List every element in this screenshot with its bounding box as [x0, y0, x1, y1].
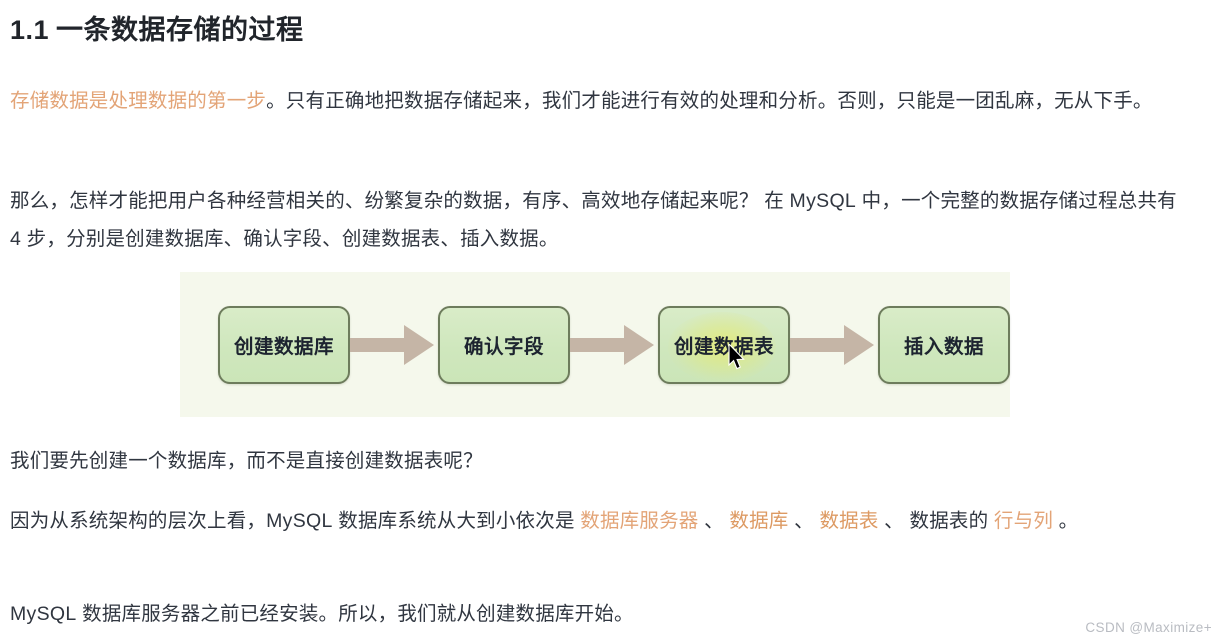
arrow-head-icon	[624, 325, 654, 365]
paragraph-4-term-mysql: MySQL	[266, 510, 333, 532]
flow-diagram: 创建数据库 确认字段 创建数据表 插入数据	[180, 272, 1010, 417]
page-title-text: 一条数据存储的过程	[56, 15, 304, 45]
paragraph-4-highlight-table: 数据表	[819, 510, 878, 532]
paragraph-1-highlight: 存储数据是处理数据的第一步	[10, 90, 266, 112]
paragraph-2: 那么，怎样才能把用户各种经营相关的、纷繁复杂的数据，有序、高效地存储起来呢？ 在…	[10, 182, 1188, 258]
paragraph-4-text-end: 。	[1053, 510, 1078, 532]
paragraph-4-text-a: 因为从系统架构的层次上看，	[10, 510, 266, 532]
page-title: 1.1一条数据存储的过程	[10, 14, 304, 46]
flow-node-create-table[interactable]: 创建数据表	[658, 306, 790, 384]
paragraph-3: 我们要先创建一个数据库，而不是直接创建数据表呢？	[10, 442, 1188, 480]
paragraph-4-highlight-db-server: 数据库服务器	[580, 510, 698, 532]
paragraph-4-sep-1: 、	[698, 510, 729, 532]
paragraph-4-sep-2: 、	[789, 510, 820, 532]
flow-node-label: 创建数据库	[234, 330, 334, 359]
arrow-shaft	[570, 338, 628, 352]
paragraph-5-text: 数据库服务器之前已经安装。所以，我们就从创建数据库开始。	[77, 603, 634, 625]
flow-node-label: 确认字段	[464, 330, 544, 359]
paragraph-5: MySQL 数据库服务器之前已经安装。所以，我们就从创建数据库开始。	[10, 595, 1188, 633]
paragraph-2-term-mysql: MySQL	[790, 190, 857, 212]
flow-node-create-database[interactable]: 创建数据库	[218, 306, 350, 384]
paragraph-4-text-b: 数据库系统从大到小依次是	[333, 510, 581, 532]
paragraph-4-highlight-rows-cols: 行与列	[994, 510, 1053, 532]
arrow-head-icon	[404, 325, 434, 365]
paragraph-4-text-c: 数据表的	[910, 510, 994, 532]
arrow-shaft	[350, 338, 408, 352]
flow-node-confirm-fields[interactable]: 确认字段	[438, 306, 570, 384]
paragraph-3-text: 我们要先创建一个数据库，而不是直接创建数据表呢？	[10, 450, 483, 472]
paragraph-2-text-a: 那么，怎样才能把用户各种经营相关的、纷繁复杂的数据，有序、高效地存储起来呢？ 在	[10, 190, 790, 212]
flow-node-label: 创建数据表	[674, 330, 774, 359]
csdn-watermark: CSDN @Maximize+	[1085, 620, 1212, 635]
arrow-shaft	[790, 338, 848, 352]
document-page: 1.1一条数据存储的过程 存储数据是处理数据的第一步。只有正确地把数据存储起来，…	[0, 0, 1226, 641]
paragraph-1: 存储数据是处理数据的第一步。只有正确地把数据存储起来，我们才能进行有效的处理和分…	[10, 82, 1188, 120]
flow-arrow-3	[790, 325, 878, 365]
flow-arrow-1	[350, 325, 438, 365]
paragraph-5-term-mysql: MySQL	[10, 603, 77, 625]
paragraph-4-highlight-database: 数据库	[729, 510, 788, 532]
arrow-head-icon	[844, 325, 874, 365]
paragraph-4: 因为从系统架构的层次上看，MySQL 数据库系统从大到小依次是 数据库服务器 、…	[10, 502, 1188, 540]
page-title-number: 1.1	[10, 15, 49, 45]
paragraph-4-sep-3: 、	[879, 510, 910, 532]
paragraph-1-text: 。只有正确地把数据存储起来，我们才能进行有效的处理和分析。否则，只能是一团乱麻，…	[266, 90, 1153, 112]
flow-node-insert-data[interactable]: 插入数据	[878, 306, 1010, 384]
flow-node-label: 插入数据	[904, 330, 984, 359]
flow-arrow-2	[570, 325, 658, 365]
